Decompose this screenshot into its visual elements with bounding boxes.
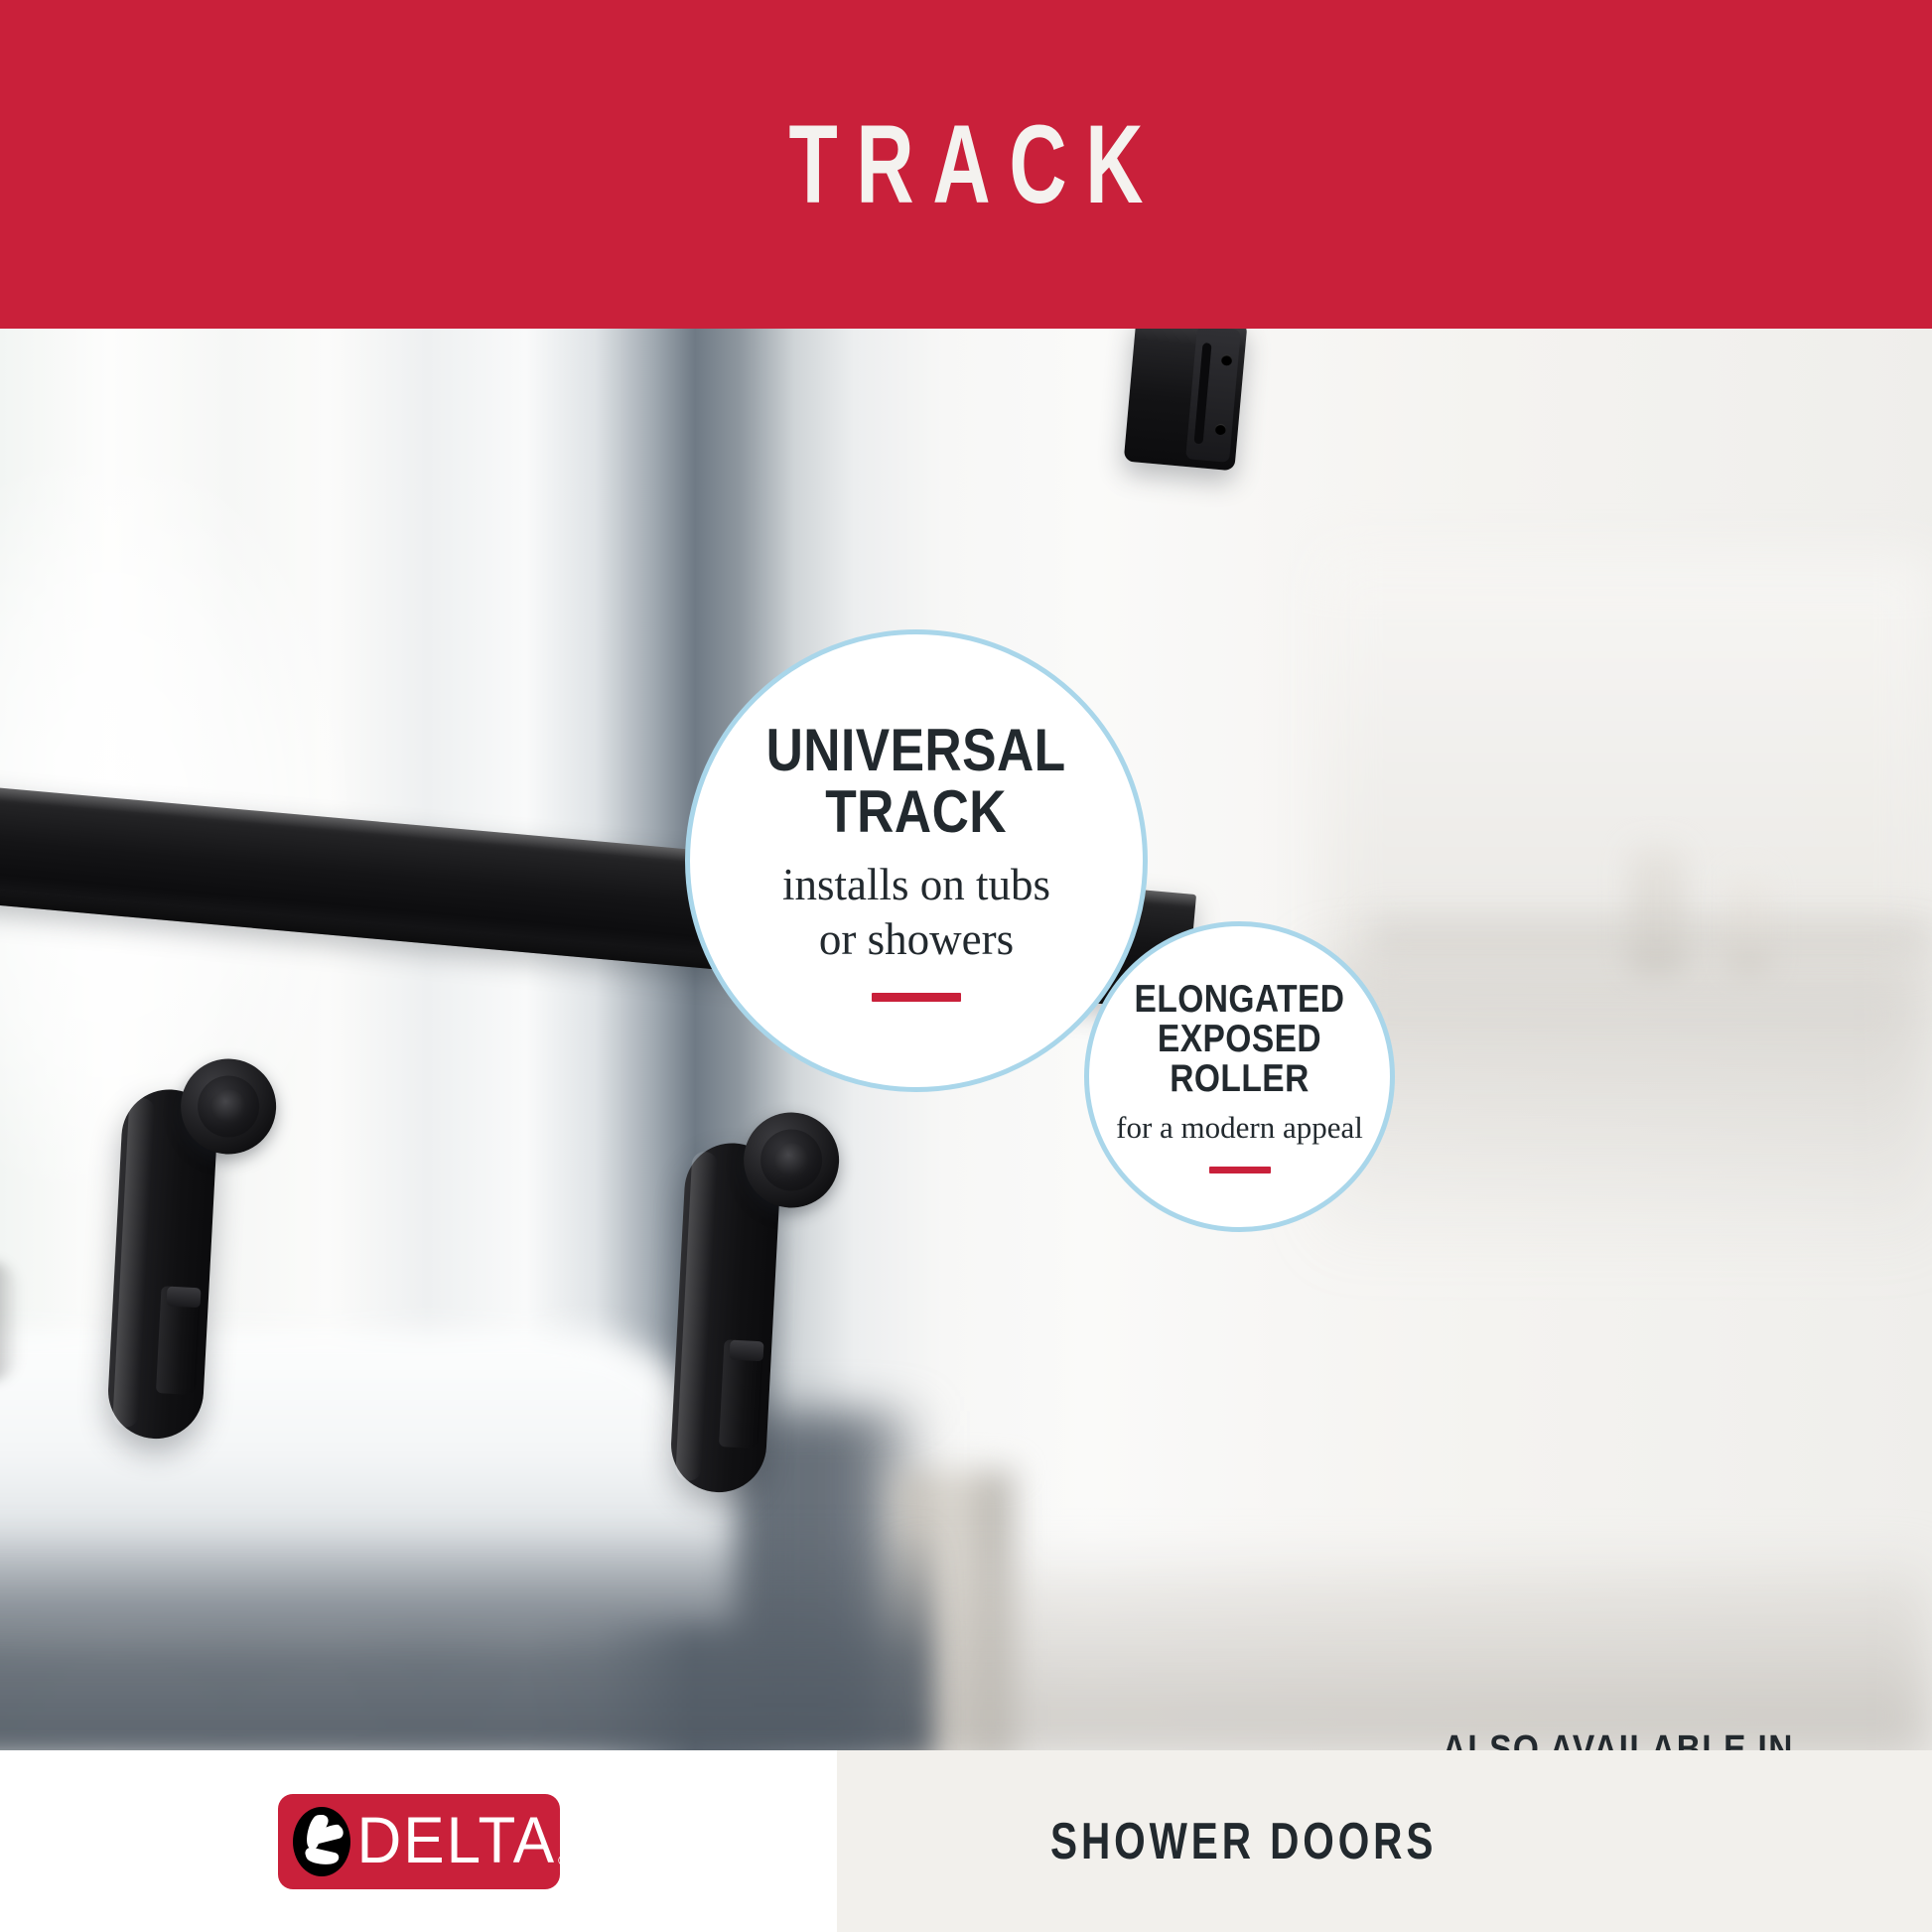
registered-mark: ® — [558, 1853, 569, 1869]
header-banner: TRACK — [0, 0, 1932, 329]
product-feature-graphic: TRACK — [0, 0, 1932, 1932]
bracket-highlight — [675, 1151, 718, 1481]
callout-heading-line: UNIVERSAL — [766, 720, 1066, 780]
callout-accent-dash — [1209, 1167, 1271, 1173]
glass-clamp — [719, 1339, 764, 1449]
bracket-highlight — [112, 1097, 155, 1428]
footer-tagline: SHOWER DOORS — [1050, 1812, 1437, 1871]
callout-universal-track: UNIVERSAL TRACK installs on tubs or show… — [685, 629, 1148, 1092]
product-photo: UNIVERSAL TRACK installs on tubs or show… — [0, 329, 1932, 1750]
delta-triangle-icon — [292, 1806, 351, 1877]
end-cap-slot — [1194, 343, 1212, 444]
callout-body-line: for a modern appeal — [1116, 1109, 1363, 1147]
footer-brand-panel: DELTA ® — [0, 1750, 837, 1932]
glass-clamp-lip — [167, 1287, 202, 1309]
footer: DELTA ® SHOWER DOORS — [0, 1750, 1932, 1932]
callout-accent-dash — [872, 993, 961, 1002]
also-available-section: ALSO AVAILABLE IN BRUSHED NICKEL CHROME — [1420, 1728, 1797, 1750]
callout-body-line: or showers — [782, 912, 1050, 967]
end-cap-face — [1185, 329, 1241, 463]
callout-heading: UNIVERSAL TRACK — [766, 720, 1066, 841]
track-end-cap — [1124, 329, 1248, 471]
glass-clamp-lip — [730, 1340, 764, 1362]
glass-panel-edge — [0, 1262, 20, 1381]
also-available-title: ALSO AVAILABLE IN — [1443, 1728, 1774, 1750]
callout-heading-line: EXPOSED ROLLER — [1110, 1020, 1369, 1099]
callout-heading-line: ELONGATED — [1110, 980, 1369, 1020]
delta-wordmark: DELTA — [357, 1809, 557, 1874]
callout-body: for a modern appeal — [1116, 1109, 1363, 1147]
callout-heading-line: TRACK — [766, 781, 1066, 842]
mounting-hole — [1214, 423, 1226, 435]
callout-body: installs on tubs or showers — [782, 858, 1050, 967]
page-title: TRACK — [270, 0, 1661, 329]
glass-clamp — [156, 1286, 202, 1395]
callout-elongated-exposed-roller: ELONGATED EXPOSED ROLLER for a modern ap… — [1084, 921, 1395, 1232]
callout-heading: ELONGATED EXPOSED ROLLER — [1110, 980, 1369, 1098]
callout-body-line: installs on tubs — [782, 858, 1050, 912]
mounting-hole — [1221, 354, 1233, 366]
footer-tagline-panel: SHOWER DOORS — [837, 1750, 1932, 1932]
delta-logo[interactable]: DELTA ® — [278, 1794, 560, 1889]
